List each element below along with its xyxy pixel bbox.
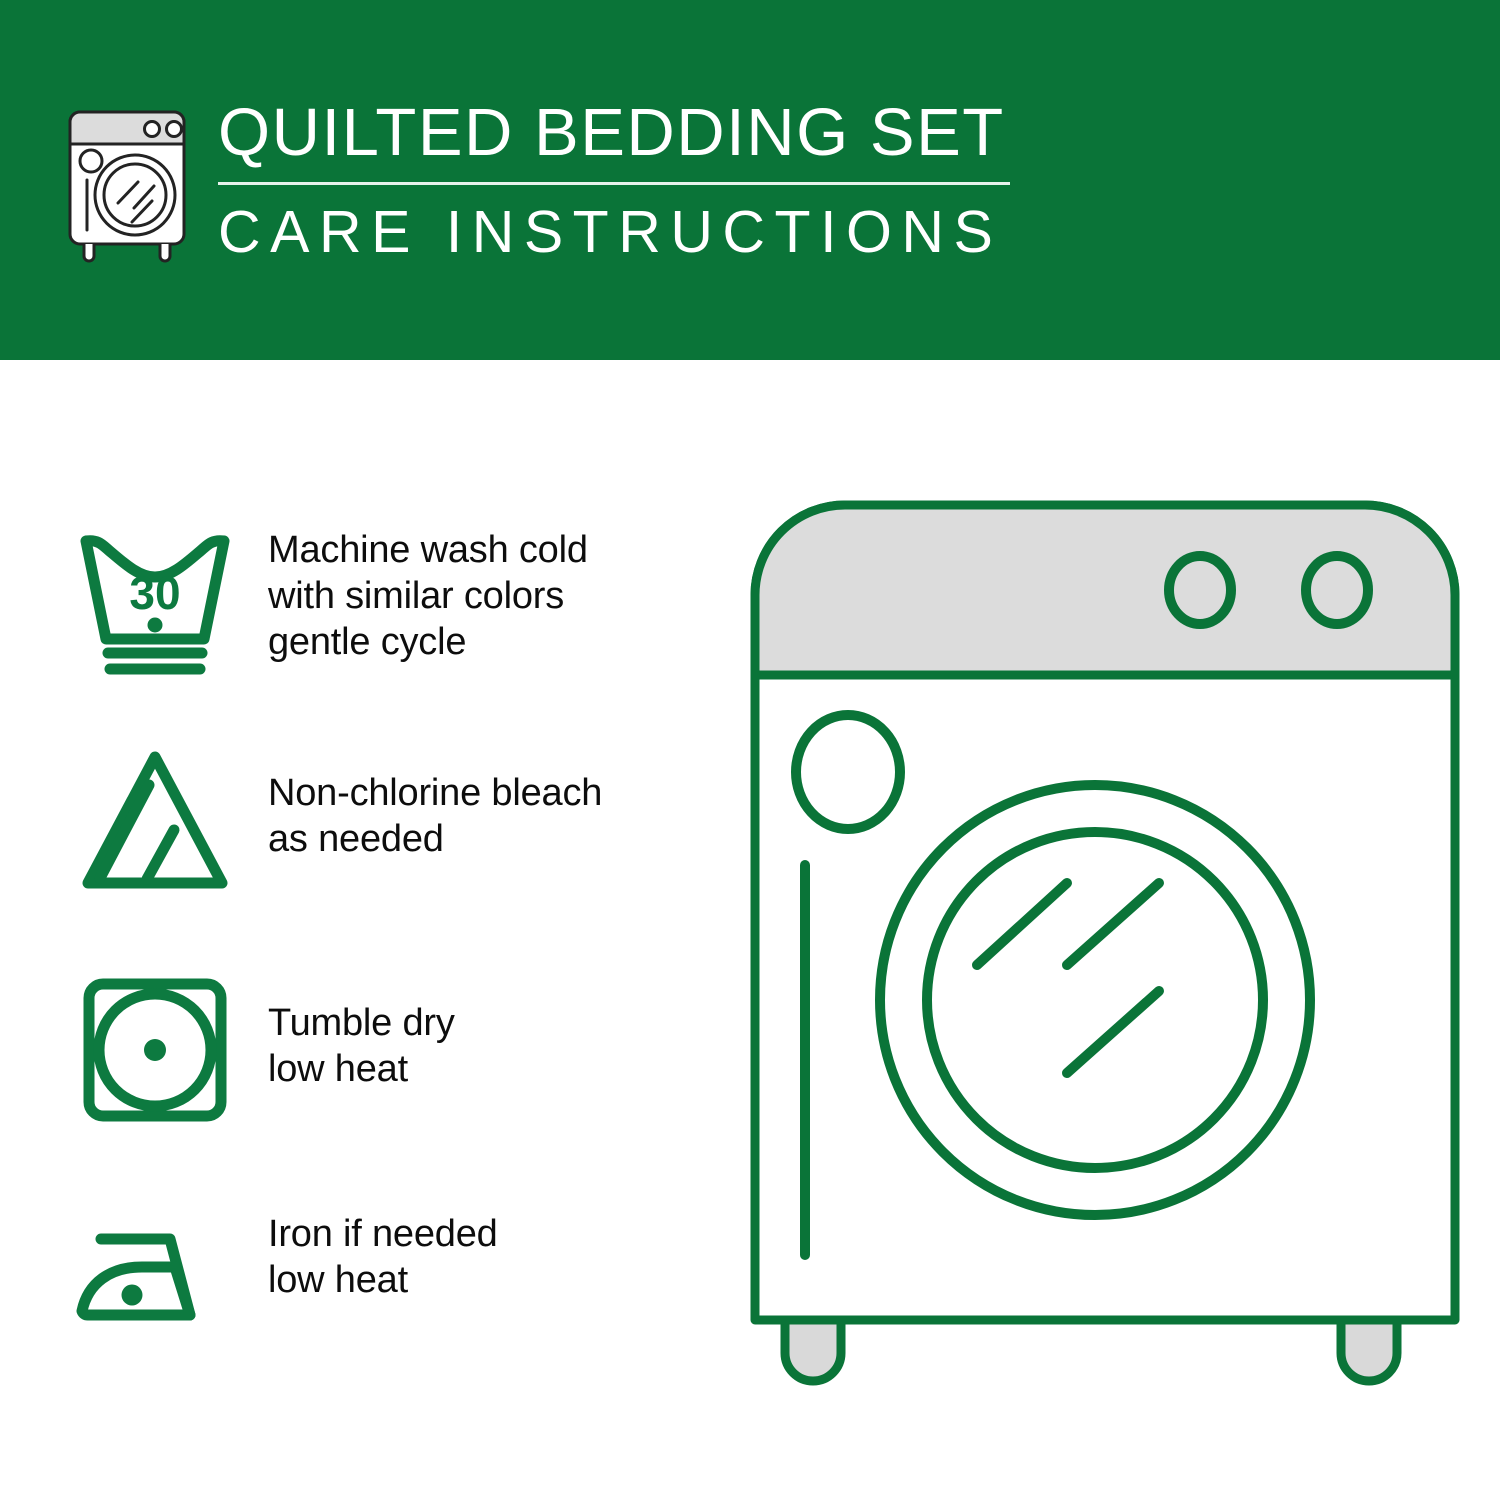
header-banner: QUILTED BEDDING SET CARE INSTRUCTIONS	[0, 0, 1500, 360]
front-load-washing-machine-illustration	[745, 495, 1465, 1430]
wash-temperature-value: 30	[129, 567, 180, 619]
list-item-label: Tumble dry low heat	[268, 965, 455, 1092]
tumble-dry-low-icon	[70, 965, 240, 1135]
page-subtitle: CARE INSTRUCTIONS	[218, 199, 1018, 265]
iron-low-heat-icon	[70, 1195, 240, 1365]
non-chlorine-bleach-icon	[70, 735, 240, 905]
list-item: Tumble dry low heat	[70, 965, 710, 1195]
list-item: 30 Machine wash cold with similar colors…	[70, 505, 710, 735]
header-text-block: QUILTED BEDDING SET CARE INSTRUCTIONS	[218, 96, 1018, 265]
list-item: Non-chlorine bleach as needed	[70, 735, 710, 965]
care-instructions-page: QUILTED BEDDING SET CARE INSTRUCTIONS	[0, 0, 1500, 1500]
page-title: QUILTED BEDDING SET	[218, 96, 1018, 170]
machine-wash-30-gentle-icon: 30	[70, 505, 240, 675]
list-item-label: Machine wash cold with similar colors ge…	[268, 505, 588, 665]
control-panel	[755, 505, 1455, 675]
title-divider	[218, 182, 1010, 185]
list-item: Iron if needed low heat	[70, 1195, 710, 1425]
washing-machine-icon	[62, 104, 192, 264]
care-instruction-list: 30 Machine wash cold with similar colors…	[70, 505, 710, 1425]
list-item-label: Iron if needed low heat	[268, 1195, 498, 1303]
list-item-label: Non-chlorine bleach as needed	[268, 735, 602, 862]
